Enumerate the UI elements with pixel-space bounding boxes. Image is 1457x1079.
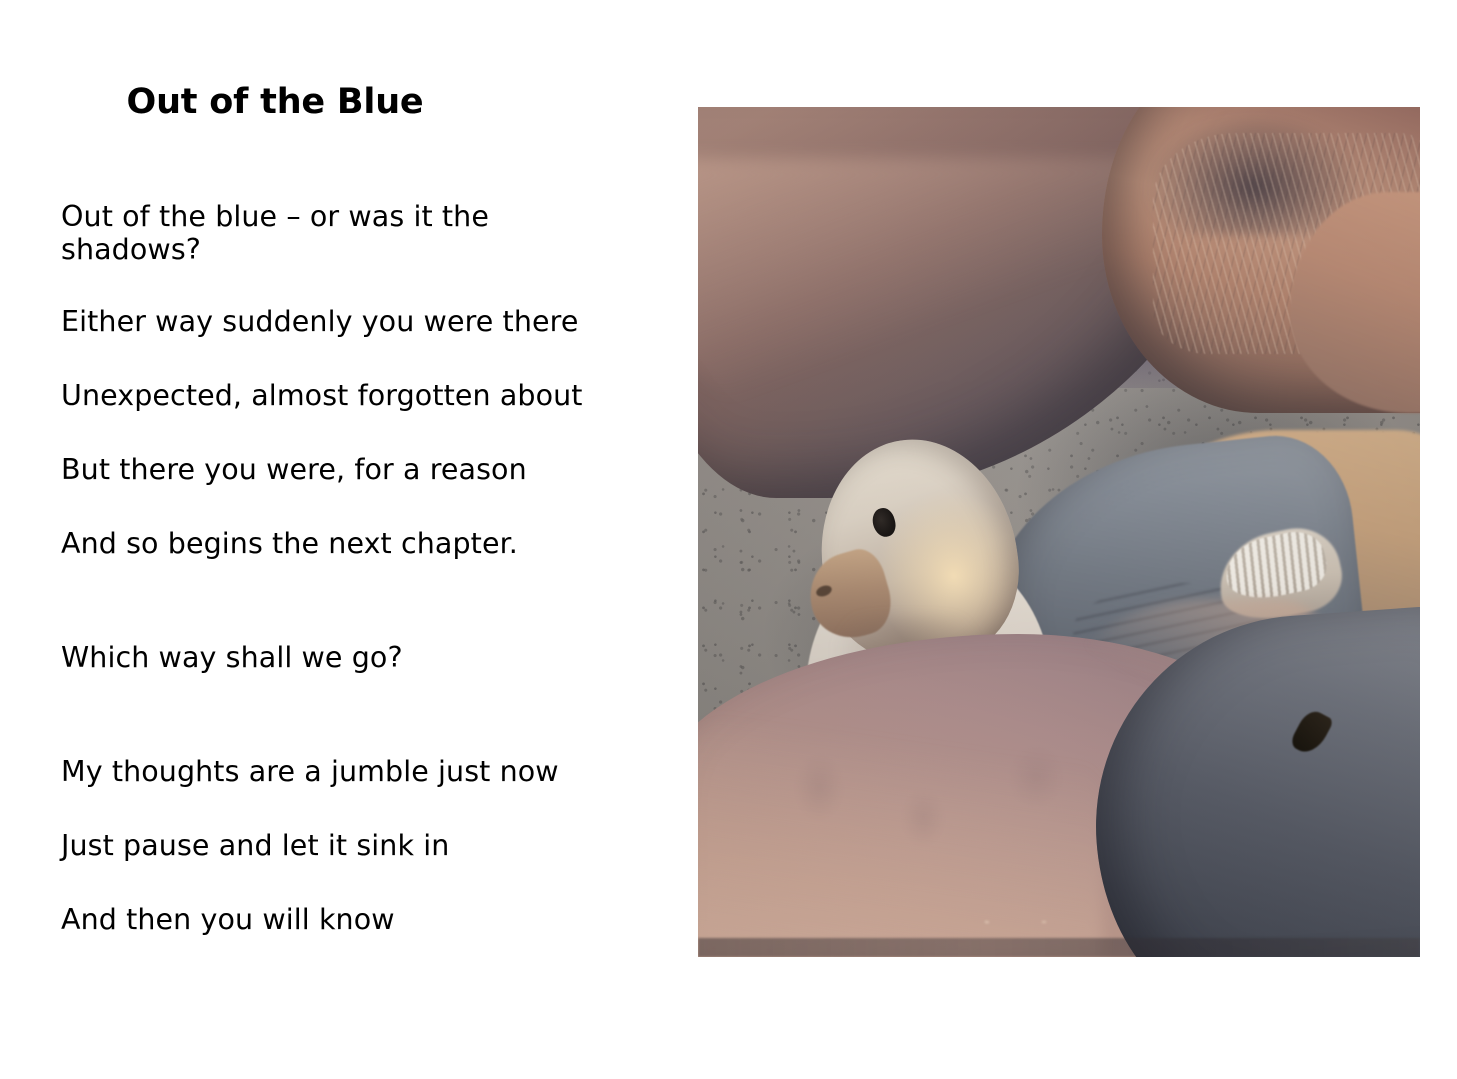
stanza-gap [61, 714, 681, 754]
poem-body: Out of the blue – or was it the shadows?… [61, 200, 681, 976]
foreground-light-streaks [972, 770, 1102, 923]
poem-line: Out of the blue – or was it the shadows? [61, 200, 681, 266]
slide-canvas: Out of the Blue Out of the blue – or was… [0, 0, 1457, 1079]
poem-line: Just pause and let it sink in [61, 828, 681, 864]
poem-line: But there you were, for a reason [61, 452, 681, 488]
poem-column: Out of the Blue Out of the blue – or was… [0, 0, 690, 1079]
poem-stanza: Which way shall we go? [61, 640, 681, 676]
photo-bottom-strip [698, 938, 1420, 957]
poem-line: Which way shall we go? [61, 640, 681, 676]
poem-line: And so begins the next chapter. [61, 526, 681, 562]
poem-line: My thoughts are a jumble just now [61, 754, 681, 790]
poem-stanza: Out of the blue – or was it the shadows?… [61, 200, 681, 562]
poem-line: Unexpected, almost forgotten about [61, 378, 681, 414]
poem-line: And then you will know [61, 902, 681, 938]
poem-line: Either way suddenly you were there [61, 304, 681, 340]
poem-stanza: My thoughts are a jumble just now Just p… [61, 754, 681, 938]
stanza-gap [61, 600, 681, 640]
page-title: Out of the Blue [0, 82, 690, 122]
seal-photo [698, 107, 1420, 957]
